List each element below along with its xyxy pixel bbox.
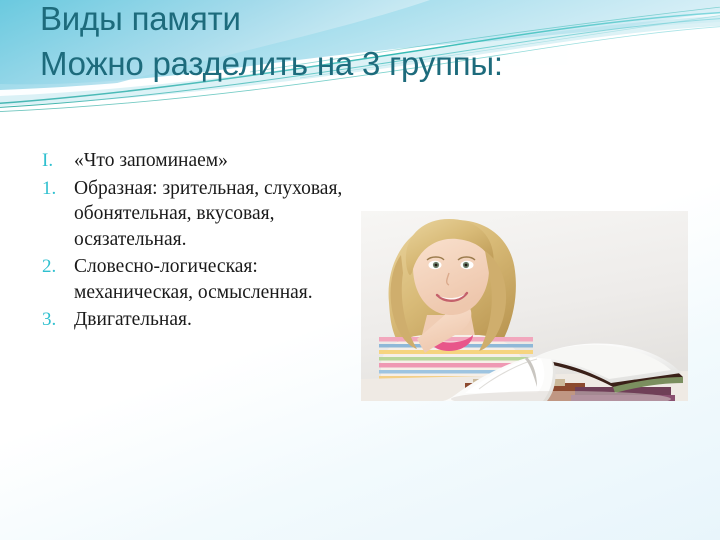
list-item-marker: I. [36, 148, 74, 174]
title-line-1: Виды памяти [40, 0, 700, 41]
list-item: 2. Словесно-логическая: механическая, ос… [36, 254, 346, 305]
list-item: I. «Что запоминаем» [36, 148, 346, 174]
list-item-marker: 1. [36, 176, 74, 202]
list-item-marker: 2. [36, 254, 74, 280]
list-item-text: Двигательная. [74, 307, 346, 333]
list-item-text: «Что запоминаем» [74, 148, 346, 174]
list-item-text: Образная: зрительная, слуховая, обонятел… [74, 176, 346, 253]
list-item-text: Словесно-логическая: механическая, осмыс… [74, 254, 346, 305]
list-item-marker: 3. [36, 307, 74, 333]
slide-canvas: Виды памяти Можно разделить на 3 группы:… [0, 0, 720, 540]
title-line-2: Можно разделить на 3 группы: [40, 41, 700, 86]
list-item: 1. Образная: зрительная, слуховая, обоня… [36, 176, 346, 253]
content-list: I. «Что запоминаем» 1. Образная: зритель… [36, 148, 346, 335]
list-item: 3. Двигательная. [36, 307, 346, 333]
page-title: Виды памяти Можно разделить на 3 группы: [40, 0, 700, 86]
photo-girl-reading-books [361, 211, 688, 401]
photo-illustration [361, 211, 688, 401]
